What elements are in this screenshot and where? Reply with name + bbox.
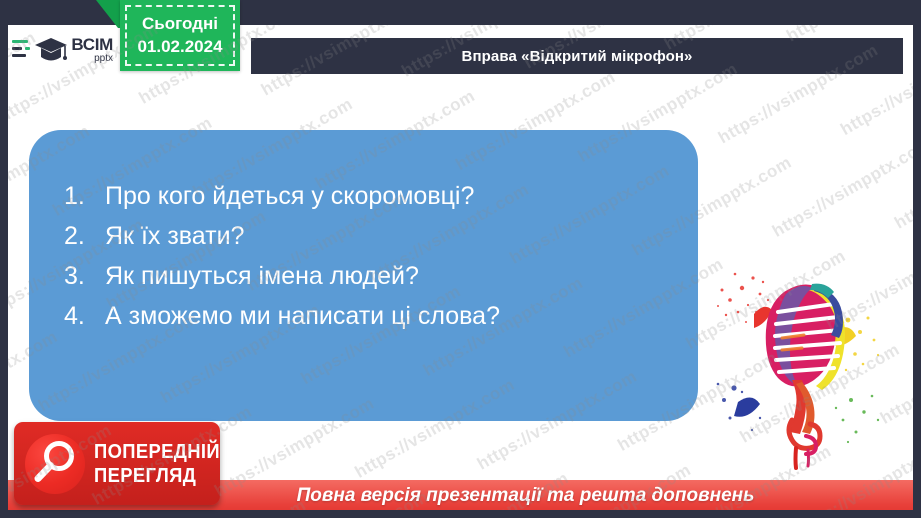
list-item-text: А зможемо ми написати ці слова?	[105, 302, 500, 330]
speed-lines-icon	[12, 35, 36, 65]
list-item-number: 3.	[47, 262, 105, 291]
vintage-microphone-illustration	[708, 260, 898, 475]
page-title: Вправа «Відкритий мікрофон»	[462, 48, 693, 65]
badge-date: 01.02.2024	[137, 37, 222, 57]
presentation-slide: 1. Про кого йдеться у скоромовці? 2. Як …	[0, 0, 921, 518]
list-item-number: 4.	[47, 302, 105, 331]
purchase-notice-line1: Повна версія презентації та решта доповн…	[297, 484, 755, 507]
slide-header-banner: Вправа «Відкритий мікрофон»	[251, 38, 903, 74]
questions-list: 1. Про кого йдеться у скоромовці? 2. Як …	[47, 182, 668, 331]
preview-button-labels: ПОПЕРЕДНІЙ ПЕРЕГЛЯД	[94, 442, 220, 486]
logo-wordmark: ВСІМ pptx	[71, 36, 113, 64]
list-item-number: 1.	[47, 182, 105, 211]
preview-button-line2: ПЕРЕГЛЯД	[94, 466, 220, 486]
list-item: 4. А зможемо ми написати ці слова?	[47, 302, 668, 331]
today-date-badge: Сьогодні 01.02.2024	[120, 0, 240, 71]
list-item: 3. Як пишуться імена людей?	[47, 262, 668, 291]
list-item-text: Про кого йдеться у скоромовці?	[105, 182, 474, 210]
logo-title: ВСІМ	[71, 36, 113, 53]
logo-subtitle: pptx	[71, 54, 113, 64]
list-item: 1. Про кого йдеться у скоромовці?	[47, 182, 668, 211]
purchase-notice-text: Повна версія презентації та решта доповн…	[167, 484, 755, 510]
list-item-text: Як їх звати?	[105, 222, 244, 250]
magnifier-icon	[25, 434, 85, 494]
list-item-text: Як пишуться імена людей?	[105, 262, 419, 290]
purchase-notice-line2: доступні після придбання.	[297, 508, 755, 511]
questions-panel: 1. Про кого йдеться у скоромовці? 2. Як …	[29, 130, 698, 421]
list-item-number: 2.	[47, 222, 105, 251]
list-item: 2. Як їх звати?	[47, 222, 668, 251]
preview-button[interactable]: ПОПЕРЕДНІЙ ПЕРЕГЛЯД	[14, 422, 220, 505]
badge-label: Сьогодні	[142, 14, 218, 34]
graduation-cap-icon	[34, 33, 68, 67]
preview-button-line1: ПОПЕРЕДНІЙ	[94, 442, 220, 462]
vsimpptx-logo: ВСІМ pptx	[8, 26, 113, 74]
